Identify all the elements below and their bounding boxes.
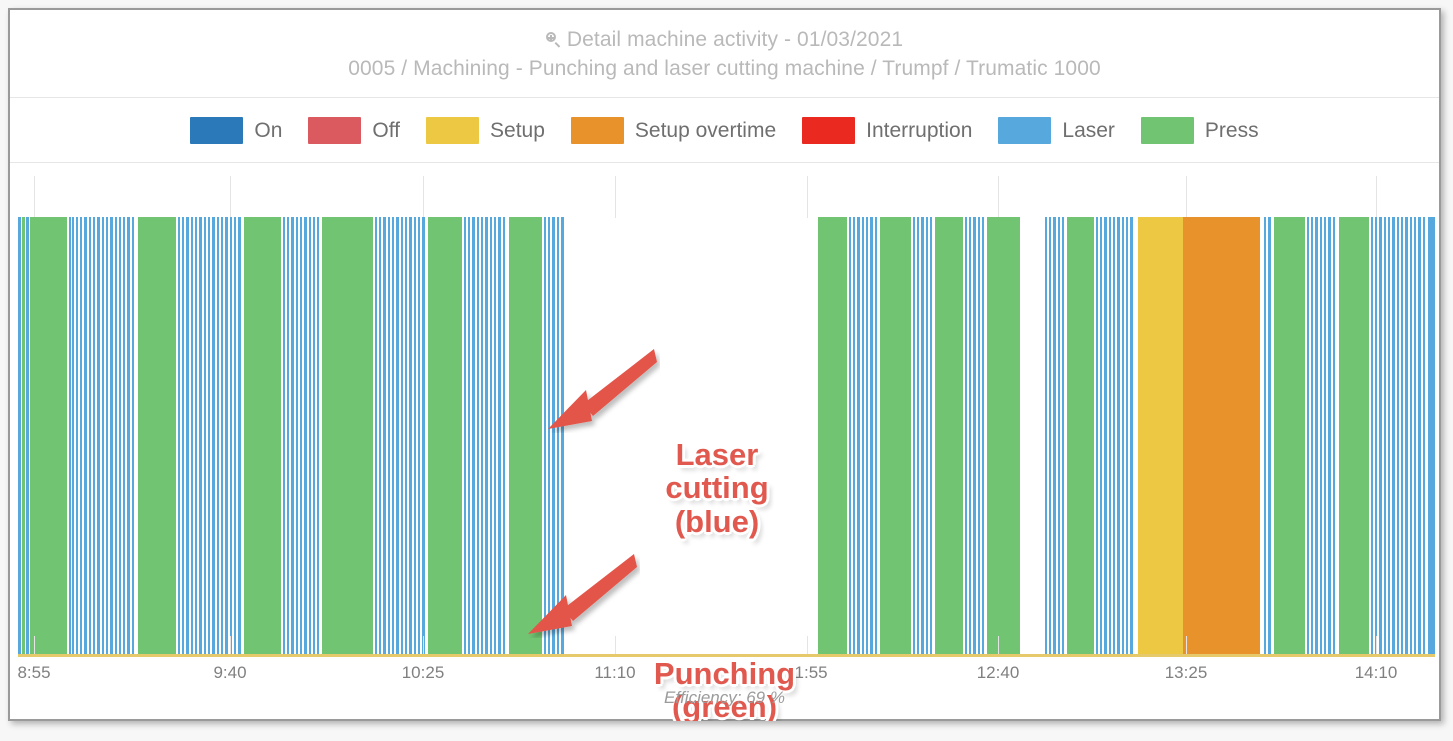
activity-segment-laser[interactable] [498, 217, 501, 654]
activity-segment-laser[interactable] [1122, 217, 1124, 654]
activity-segment-press[interactable] [818, 217, 847, 654]
activity-segment-laser[interactable] [132, 217, 134, 654]
page-title-text: Detail machine activity - 01/03/2021 [567, 28, 903, 51]
activity-segment-laser[interactable] [548, 217, 550, 654]
activity-segment-laser[interactable] [1049, 217, 1051, 654]
activity-segment-laser[interactable] [309, 217, 311, 654]
activity-segment-press[interactable] [322, 217, 373, 654]
activity-segment-laser[interactable] [80, 217, 82, 654]
activity-segment-laser[interactable] [1423, 217, 1425, 654]
activity-segment-laser[interactable] [1410, 217, 1412, 654]
activity-segment-laser[interactable] [84, 217, 87, 654]
legend-item-off[interactable]: Off [308, 117, 400, 144]
activity-segment-laser[interactable] [115, 217, 117, 654]
activity-segment-laser[interactable] [1311, 217, 1313, 654]
activity-segment-setup[interactable] [1138, 217, 1183, 654]
activity-segment-press[interactable] [244, 217, 281, 654]
activity-segment-laser[interactable] [965, 217, 967, 654]
activity-segment-laser[interactable] [287, 217, 289, 654]
activity-segment-laser[interactable] [917, 217, 919, 654]
activity-segment-laser[interactable] [1384, 217, 1386, 654]
activity-segment-laser[interactable] [1428, 217, 1435, 654]
activity-segment-laser[interactable] [204, 217, 206, 654]
activity-segment-laser[interactable] [1320, 217, 1322, 654]
activity-segment-laser[interactable] [857, 217, 860, 654]
chart-canvas: 8:559:4010:2511:1011:5512:4013:2514:10 L… [10, 163, 1439, 721]
activity-segment-laser[interactable] [221, 217, 223, 654]
legend-label: Interruption [866, 119, 972, 143]
activity-segment-laser[interactable] [1405, 217, 1408, 654]
activity-segment-laser[interactable] [503, 217, 505, 654]
axis-baseline [18, 654, 1435, 657]
activity-segment-press[interactable] [22, 217, 25, 654]
activity-segment-laser[interactable] [304, 217, 307, 654]
activity-segment-laser[interactable] [490, 217, 492, 654]
legend-swatch-icon [571, 117, 624, 144]
axis-tick [1186, 636, 1187, 654]
axis-tick [615, 636, 616, 654]
activity-segment-laser[interactable] [383, 217, 386, 654]
activity-segment-laser[interactable] [1379, 217, 1382, 654]
axis-tick-label: 8:55 [17, 663, 50, 683]
activity-segment-laser[interactable] [89, 217, 91, 654]
activity-segment-laser[interactable] [225, 217, 228, 654]
activity-segment-laser[interactable] [76, 217, 78, 654]
legend-swatch-icon [998, 117, 1051, 144]
activity-segment-laser[interactable] [392, 217, 394, 654]
activity-segment-laser[interactable] [1392, 217, 1395, 654]
activity-segment-laser[interactable] [862, 217, 864, 654]
axis-tick [230, 636, 231, 654]
page-subtitle: 0005 / Machining - Punching and laser cu… [10, 57, 1439, 81]
activity-segment-laser[interactable] [978, 217, 980, 654]
activity-segment-laser[interactable] [119, 217, 121, 654]
activity-segment-laser[interactable] [921, 217, 924, 654]
legend-swatch-icon [426, 117, 479, 144]
activity-segment-laser[interactable] [1062, 217, 1064, 654]
activity-segment-laser[interactable] [464, 217, 466, 654]
activity-segment-laser[interactable] [418, 217, 420, 654]
machine-activity-card: Detail machine activity - 01/03/2021 000… [8, 8, 1441, 721]
activity-segment-laser[interactable] [300, 217, 302, 654]
activity-segment-laser[interactable] [388, 217, 390, 654]
chart-legend: OnOffSetupSetup overtimeInterruptionLase… [10, 99, 1439, 163]
activity-segment-laser[interactable] [422, 217, 425, 654]
axis-tick [423, 636, 424, 654]
zoom-in-icon[interactable] [546, 32, 562, 48]
activity-segment-laser[interactable] [72, 217, 74, 654]
activity-segment-laser[interactable] [291, 217, 294, 654]
activity-segment-laser[interactable] [913, 217, 915, 654]
activity-segment-laser[interactable] [238, 217, 241, 654]
activity-segment-laser[interactable] [396, 217, 399, 654]
page-title: Detail machine activity - 01/03/2021 [10, 28, 1439, 52]
activity-segment-laser[interactable] [18, 217, 21, 654]
legend-label: Press [1205, 119, 1259, 143]
legend-swatch-icon [1141, 117, 1194, 144]
activity-segment-laser[interactable] [973, 217, 976, 654]
activity-segment-laser[interactable] [110, 217, 113, 654]
activity-segment-laser[interactable] [557, 217, 559, 654]
activity-segment-press[interactable] [428, 217, 462, 654]
activity-segment-laser[interactable] [230, 217, 232, 654]
gridline [423, 176, 424, 218]
activity-segment-laser[interactable] [1268, 217, 1271, 654]
activity-segment-laser[interactable] [401, 217, 403, 654]
gridline [807, 176, 808, 218]
activity-segment-laser[interactable] [494, 217, 496, 654]
efficiency-label: Efficiency: 69 % [10, 688, 1439, 708]
activity-segment-laser[interactable] [405, 217, 407, 654]
legend-item-setup[interactable]: Setup [426, 117, 545, 144]
activity-segment-laser[interactable] [195, 217, 197, 654]
activity-segment-laser[interactable] [199, 217, 202, 654]
activity-segment-laser[interactable] [1388, 217, 1390, 654]
legend-item-press[interactable]: Press [1141, 117, 1259, 144]
activity-segment-laser[interactable] [409, 217, 412, 654]
activity-segment-laser[interactable] [1100, 217, 1102, 654]
activity-segment-laser[interactable] [93, 217, 95, 654]
axis-tick-label: 9:40 [213, 663, 246, 683]
activity-segment-press[interactable] [880, 217, 911, 654]
activity-segment-press[interactable] [1274, 217, 1305, 654]
activity-segment-laser[interactable] [870, 217, 873, 654]
axis-tick [34, 636, 35, 654]
activity-segment-laser[interactable] [1117, 217, 1120, 654]
axis-tick [998, 636, 999, 654]
activity-segment-laser[interactable] [1053, 217, 1056, 654]
activity-segment-laser[interactable] [544, 217, 546, 654]
activity-segment-laser[interactable] [472, 217, 475, 654]
activity-segment-laser[interactable] [853, 217, 855, 654]
activity-segment-laser[interactable] [379, 217, 381, 654]
gridline [1376, 176, 1377, 218]
activity-segment-laser[interactable] [1418, 217, 1421, 654]
activity-segment-laser[interactable] [552, 217, 555, 654]
activity-segment-laser[interactable] [313, 217, 315, 654]
activity-segment-laser[interactable] [1104, 217, 1107, 654]
legend-item-interruption[interactable]: Interruption [802, 117, 972, 144]
activity-segment-laser[interactable] [283, 217, 285, 654]
activity-segment-laser[interactable] [1045, 217, 1047, 654]
legend-swatch-icon [308, 117, 361, 144]
activity-segment-laser[interactable] [866, 217, 868, 654]
activity-segment-laser[interactable] [1264, 217, 1266, 654]
activity-segment-laser[interactable] [97, 217, 100, 654]
gridline [230, 176, 231, 218]
activity-segment-laser[interactable] [217, 217, 219, 654]
axis-tick-label: 12:40 [977, 663, 1020, 683]
activity-segment-setup-overtime[interactable] [1183, 217, 1260, 654]
activity-segment-press[interactable] [1339, 217, 1369, 654]
activity-segment-press[interactable] [509, 217, 542, 654]
activity-segment-laser[interactable] [1324, 217, 1326, 654]
legend-label: Setup overtime [635, 119, 776, 143]
activity-segment-laser[interactable] [969, 217, 971, 654]
activity-segment-laser[interactable] [375, 217, 377, 654]
activity-segment-laser[interactable] [1058, 217, 1060, 654]
legend-label: On [254, 119, 282, 143]
activity-segment-laser[interactable] [561, 217, 564, 654]
activity-segment-laser[interactable] [468, 217, 470, 654]
activity-segment-laser[interactable] [477, 217, 479, 654]
legend-item-on[interactable]: On [190, 117, 282, 144]
activity-segment-laser[interactable] [1307, 217, 1309, 654]
activity-segment-laser[interactable] [1375, 217, 1377, 654]
activity-segment-laser[interactable] [1328, 217, 1331, 654]
activity-segment-laser[interactable] [1130, 217, 1133, 654]
activity-segment-press[interactable] [30, 217, 67, 654]
activity-segment-laser[interactable] [1397, 217, 1399, 654]
activity-segment-laser[interactable] [102, 217, 104, 654]
activity-segment-laser[interactable] [186, 217, 189, 654]
activity-segment-laser[interactable] [26, 217, 29, 654]
activity-segment-laser[interactable] [485, 217, 488, 654]
activity-segment-laser[interactable] [208, 217, 210, 654]
axis-tick-label: 11:10 [594, 663, 635, 683]
activity-segment-laser[interactable] [849, 217, 851, 654]
activity-segment-laser[interactable] [191, 217, 193, 654]
legend-item-laser[interactable]: Laser [998, 117, 1115, 144]
gridline [998, 176, 999, 218]
activity-segment-laser[interactable] [982, 217, 984, 654]
activity-segment-laser[interactable] [1126, 217, 1128, 654]
activity-segment-laser[interactable] [1113, 217, 1115, 654]
activity-segment-laser[interactable] [234, 217, 236, 654]
gridline [34, 176, 35, 218]
activity-segment-laser[interactable] [1096, 217, 1098, 654]
gridline [1186, 176, 1187, 218]
activity-segment-laser[interactable] [212, 217, 215, 654]
legend-item-setup-overtime[interactable]: Setup overtime [571, 117, 776, 144]
axis-tick-label: 13:25 [1165, 663, 1208, 683]
axis-tick [1376, 636, 1377, 654]
activity-segment-laser[interactable] [926, 217, 928, 654]
activity-segment-laser[interactable] [106, 217, 108, 654]
legend-label: Laser [1062, 119, 1115, 143]
gridline [615, 176, 616, 218]
activity-segment-laser[interactable] [123, 217, 125, 654]
legend-label: Off [372, 119, 400, 143]
activity-segment-laser[interactable] [1371, 217, 1373, 654]
chart-plot-area: 8:559:4010:2511:1011:5512:4013:2514:10 L… [10, 163, 1439, 721]
activity-segment-laser[interactable] [182, 217, 184, 654]
activity-segment-laser[interactable] [1333, 217, 1335, 654]
activity-segment-laser[interactable] [296, 217, 298, 654]
activity-segment-laser[interactable] [414, 217, 416, 654]
activity-segment-laser[interactable] [127, 217, 130, 654]
activity-bars[interactable] [10, 217, 1439, 654]
activity-segment-press[interactable] [935, 217, 963, 654]
card-header: Detail machine activity - 01/03/2021 000… [10, 10, 1439, 98]
legend-swatch-icon [190, 117, 243, 144]
axis-tick-label: 10:25 [402, 663, 445, 683]
activity-segment-laser[interactable] [875, 217, 877, 654]
legend-swatch-icon [802, 117, 855, 144]
activity-segment-laser[interactable] [317, 217, 319, 654]
activity-segment-laser[interactable] [930, 217, 932, 654]
activity-segment-press[interactable] [138, 217, 176, 654]
activity-segment-laser[interactable] [1401, 217, 1403, 654]
activity-segment-laser[interactable] [1109, 217, 1111, 654]
activity-segment-laser[interactable] [69, 217, 71, 654]
activity-segment-laser[interactable] [481, 217, 483, 654]
axis-tick-label: 14:10 [1355, 663, 1398, 683]
activity-segment-press[interactable] [1067, 217, 1094, 654]
activity-segment-laser[interactable] [1414, 217, 1416, 654]
axis-tick [807, 636, 808, 654]
activity-segment-laser[interactable] [1315, 217, 1318, 654]
legend-label: Setup [490, 119, 545, 143]
activity-segment-press[interactable] [987, 217, 1020, 654]
axis-tick-label: 11:55 [786, 663, 827, 683]
activity-segment-laser[interactable] [178, 217, 180, 654]
